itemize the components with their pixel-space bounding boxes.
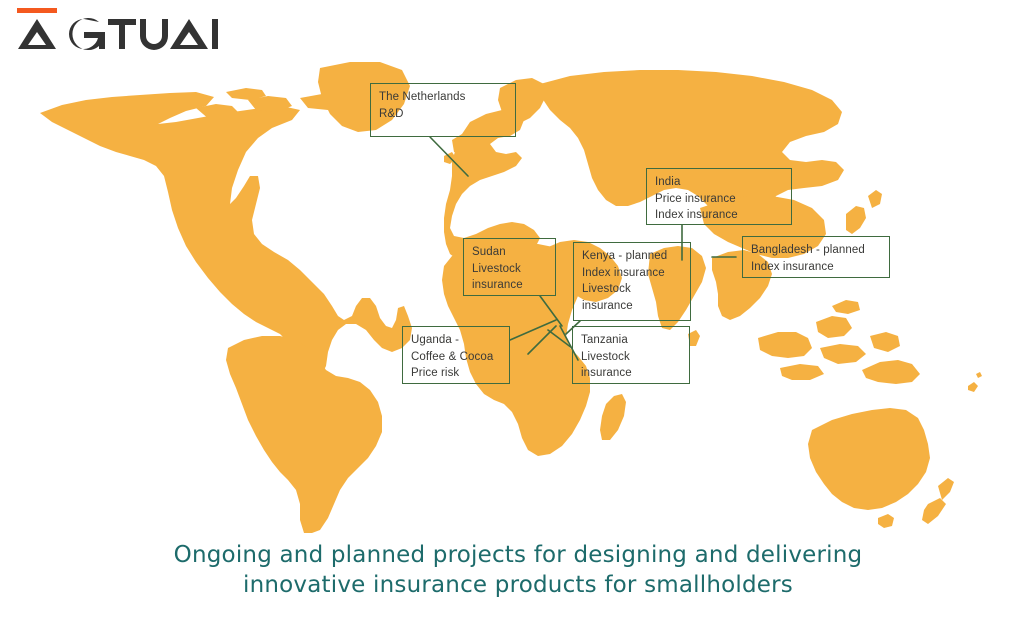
callout-india-line-2: Price insurance [655, 191, 784, 208]
landmass-tasmania [878, 514, 894, 528]
logo-letter-g [69, 18, 105, 50]
landmass-japan [846, 190, 882, 234]
callout-uganda-line-3: Price risk [411, 365, 502, 382]
landmass-pacific-islets [968, 372, 982, 392]
callout-sudan-line-2: Livestock [472, 261, 548, 278]
callout-uganda-line-1: Uganda - [411, 332, 502, 349]
callout-india-line-1: India [655, 174, 784, 191]
callout-tanzania[interactable]: Tanzania Livestock insurance [572, 326, 690, 384]
callout-netherlands-line-1: The Netherlands [379, 89, 508, 106]
landmass-new-zealand [922, 478, 954, 524]
logo-letter-u [140, 19, 168, 50]
callout-bangladesh[interactable]: Bangladesh - planned Index insurance [742, 236, 890, 278]
callout-kenya-line-1: Kenya - planned [582, 248, 683, 265]
landmass-australia [808, 408, 930, 510]
callout-sudan-line-3: insurance [472, 277, 548, 294]
landmass-madagascar [600, 394, 626, 440]
callout-kenya-line-4: insurance [582, 298, 683, 315]
callout-netherlands[interactable]: The Netherlands R&D [370, 83, 516, 137]
logo-letter-t [108, 19, 136, 49]
callout-tanzania-line-2: Livestock [581, 349, 682, 366]
logo-mark [12, 6, 222, 54]
callout-india-line-3: Index insurance [655, 207, 784, 224]
callout-uganda[interactable]: Uganda - Coffee & Cocoa Price risk [402, 326, 510, 384]
callout-kenya[interactable]: Kenya - planned Index insurance Livestoc… [573, 242, 691, 321]
logo-letter-a2 [170, 19, 208, 49]
callout-tanzania-line-3: insurance [581, 365, 682, 382]
caption-line-1: Ongoing and planned projects for designi… [0, 540, 1036, 570]
landmass-papua-new-guinea [862, 360, 920, 384]
callout-kenya-line-3: Livestock [582, 281, 683, 298]
landmass-north-america [40, 92, 412, 384]
callout-bangladesh-line-2: Index insurance [751, 259, 882, 276]
figure-caption: Ongoing and planned projects for designi… [0, 540, 1036, 600]
callout-bangladesh-line-1: Bangladesh - planned [751, 242, 882, 259]
caption-line-2: innovative insurance products for smallh… [0, 570, 1036, 600]
logo-letter-l [212, 19, 218, 49]
callout-india[interactable]: India Price insurance Index insurance [646, 168, 792, 225]
logo-accent-bar [17, 8, 57, 13]
callout-kenya-line-2: Index insurance [582, 265, 683, 282]
landmass-south-america [226, 336, 382, 533]
callout-uganda-line-2: Coffee & Cocoa [411, 349, 502, 366]
callout-tanzania-line-1: Tanzania [581, 332, 682, 349]
callout-netherlands-line-2: R&D [379, 106, 508, 123]
logo-letter-a [18, 19, 56, 49]
map-stage: The Netherlands R&D India Price insuranc… [0, 48, 1036, 533]
agtuall-logo [12, 6, 222, 54]
callout-sudan[interactable]: Sudan Livestock insurance [463, 238, 556, 296]
callout-sudan-line-1: Sudan [472, 244, 548, 261]
